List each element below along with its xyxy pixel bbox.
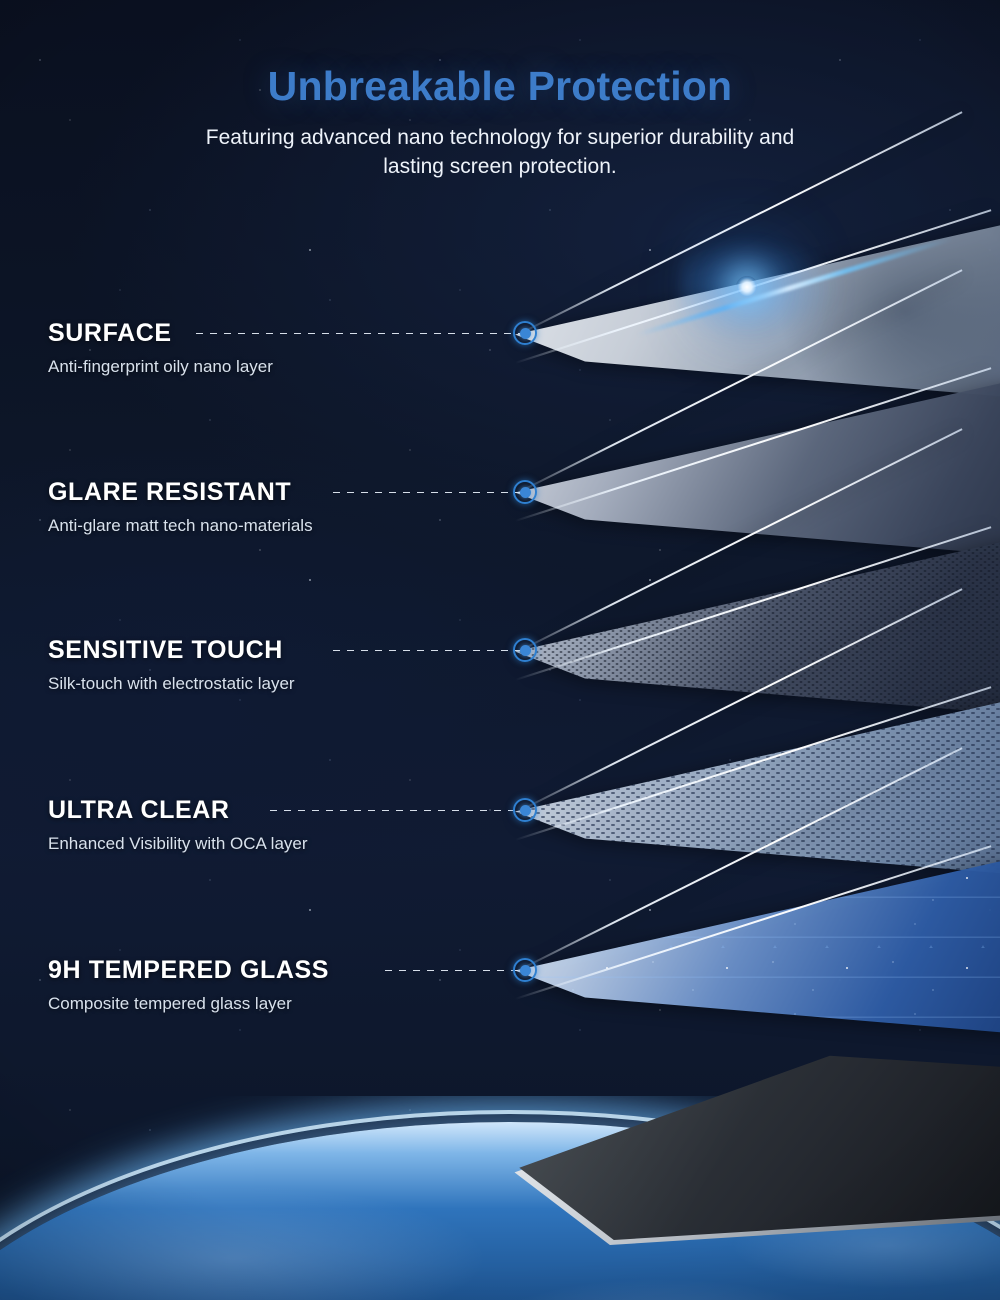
layer-label-surface[interactable]: SURFACE Anti-fingerprint oily nano layer: [48, 321, 273, 377]
layer-label-touch[interactable]: SENSITIVE TOUCH Silk-touch with electros…: [48, 638, 295, 694]
layer-label-glass-title: 9H TEMPERED GLASS: [48, 958, 329, 983]
layer-label-group: SURFACE Anti-fingerprint oily nano layer…: [0, 0, 1000, 1300]
dot-marker-dot: [520, 645, 531, 656]
dot-marker-icon-surface[interactable]: [513, 321, 537, 345]
layer-label-clear-title: ULTRA CLEAR: [48, 798, 308, 823]
dot-marker-dot: [520, 487, 531, 498]
dot-marker-icon-clear[interactable]: [513, 798, 537, 822]
layer-label-clear[interactable]: ULTRA CLEAR Enhanced Visibility with OCA…: [48, 798, 308, 854]
dot-marker-dot: [520, 328, 531, 339]
layer-label-glare-title: GLARE RESISTANT: [48, 480, 313, 505]
dot-marker-dot: [520, 965, 531, 976]
layer-label-surface-title: SURFACE: [48, 321, 273, 346]
layer-label-surface-subtitle: Anti-fingerprint oily nano layer: [48, 357, 273, 377]
layer-label-glass[interactable]: 9H TEMPERED GLASS Composite tempered gla…: [48, 958, 329, 1014]
layer-label-clear-subtitle: Enhanced Visibility with OCA layer: [48, 834, 308, 854]
dot-marker-icon-glass[interactable]: [513, 958, 537, 982]
dot-marker-dot: [520, 805, 531, 816]
product-infographic: Unbreakable Protection Featuring advance…: [0, 0, 1000, 1300]
layer-label-touch-subtitle: Silk-touch with electrostatic layer: [48, 674, 295, 694]
layer-label-glare-subtitle: Anti-glare matt tech nano-materials: [48, 516, 313, 536]
page-subtitle: Featuring advanced nano technology for s…: [195, 124, 805, 182]
layer-label-glass-subtitle: Composite tempered glass layer: [48, 994, 329, 1014]
layer-label-touch-title: SENSITIVE TOUCH: [48, 638, 295, 663]
dot-marker-icon-glare[interactable]: [513, 480, 537, 504]
layer-label-glare[interactable]: GLARE RESISTANT Anti-glare matt tech nan…: [48, 480, 313, 536]
header: Unbreakable Protection Featuring advance…: [0, 64, 1000, 182]
dot-marker-icon-touch[interactable]: [513, 638, 537, 662]
page-title: Unbreakable Protection: [0, 64, 1000, 110]
